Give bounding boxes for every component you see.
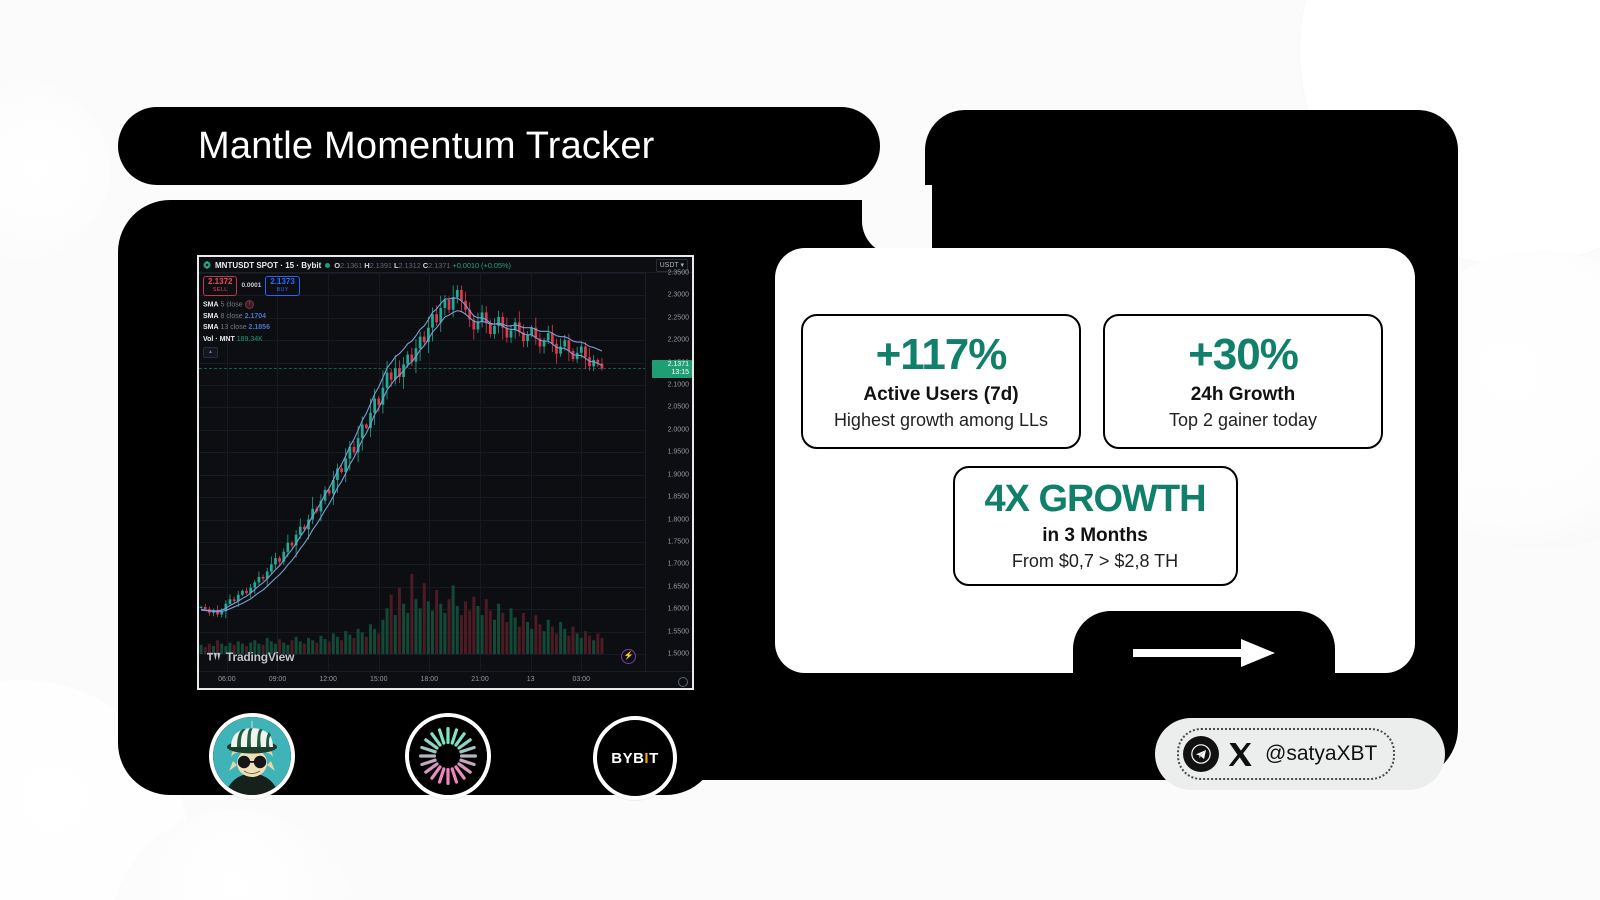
candle-body: [439, 308, 442, 322]
candle-body: [406, 355, 409, 365]
mantle-logo-icon: [203, 261, 211, 269]
decorative-circle-top-left: [0, 80, 110, 260]
sma5-name: SMA: [203, 301, 219, 308]
volume-bar: [386, 608, 389, 654]
candle-body: [241, 591, 244, 595]
volume-bar: [452, 585, 455, 654]
ohlc-open-value: 2.1361: [340, 261, 362, 270]
buy-button[interactable]: 2.1373 BUY: [265, 276, 299, 296]
sma5-params: 5 close: [221, 301, 243, 308]
bybit-text-part-1: BYB: [611, 750, 644, 767]
warning-icon[interactable]: !: [245, 300, 254, 309]
volume-bar: [373, 629, 376, 654]
volume-bar: [448, 599, 451, 654]
candle-body: [204, 607, 207, 609]
volume-bar: [476, 606, 479, 654]
candle-body: [530, 328, 533, 335]
spread-value: 0.0001: [241, 281, 261, 291]
volume-bar: [406, 613, 409, 654]
bybit-text-part-2: T: [649, 750, 659, 767]
candle-body: [419, 337, 422, 349]
volume-bar: [456, 606, 459, 654]
candle-body: [291, 543, 294, 546]
stat-value-active-users: +117%: [876, 333, 1007, 377]
chart-ohlc-readout: O2.1361 H2.1391 L2.1312 C2.1371 +0.0010 …: [334, 261, 511, 270]
volume-bar: [394, 615, 397, 654]
time-axis-tick: 03:00: [572, 676, 590, 683]
chevron-up-icon[interactable]: ▲: [203, 347, 218, 358]
candle-body: [200, 607, 203, 608]
candle-body: [353, 447, 356, 452]
social-handle-inner: @satyaXBT: [1177, 728, 1395, 780]
candle-body: [592, 360, 595, 366]
clock-icon[interactable]: [678, 677, 688, 687]
stat-card-24h-growth: +30% 24h Growth Top 2 gainer today: [1103, 314, 1383, 449]
volume-bar: [423, 583, 426, 654]
volume-bar: [319, 636, 322, 654]
volume-bar: [592, 640, 595, 654]
volume-bar: [501, 613, 504, 654]
candle-body: [431, 314, 434, 327]
volume-bar: [410, 574, 413, 654]
volume-bar: [600, 638, 603, 654]
social-handle-text: @satyaXBT: [1265, 742, 1377, 766]
candle-body: [423, 337, 426, 342]
volume-bar: [311, 640, 314, 654]
volume-name: Vol · MNT: [203, 336, 235, 343]
sma13-name: SMA: [203, 324, 219, 331]
candle-body: [580, 347, 583, 353]
page-title: Mantle Momentum Tracker: [118, 125, 655, 168]
candle-body: [493, 326, 496, 334]
volume-bar: [497, 604, 500, 654]
price-axis-tick: 2.3000: [668, 292, 689, 299]
price-axis-tick: 1.9500: [668, 449, 689, 456]
time-axis-tick: 13: [527, 676, 535, 683]
candle-body: [286, 543, 289, 552]
volume-bar: [468, 611, 471, 654]
mantle-logo[interactable]: [405, 713, 491, 799]
stats-row-bottom: 4X GROWTH in 3 Months From $0,7 > $2,8 T…: [775, 466, 1415, 586]
chart-symbol-label[interactable]: MNTUSDT SPOT · 15 · Bybit: [215, 261, 321, 270]
price-axis-tick: 2.3500: [668, 270, 689, 277]
price-axis-tick: 2.1000: [668, 382, 689, 389]
buy-price: 2.1373: [270, 278, 294, 286]
price-axis-tick: 1.7500: [668, 538, 689, 545]
volume-bar: [460, 615, 463, 654]
price-axis-tick: 1.5500: [668, 628, 689, 635]
price-axis-tick: 1.7000: [668, 561, 689, 568]
bid-ask-widget[interactable]: 2.1372 SELL 0.0001 2.1373 BUY: [203, 276, 300, 296]
volume-bar: [402, 604, 405, 654]
sma8-name: SMA: [203, 313, 219, 320]
stat-sub-24h-growth: Top 2 gainer today: [1169, 410, 1317, 431]
volume-bar: [295, 637, 298, 654]
time-axis-tick: 06:00: [218, 676, 236, 683]
sell-button[interactable]: 2.1372 SELL: [203, 276, 237, 296]
current-price-time: 13:15: [655, 369, 689, 377]
stat-value-4x-growth: 4X GROWTH: [984, 480, 1205, 518]
candle-body: [444, 300, 447, 308]
candle-body: [435, 314, 438, 322]
sma13-value: 2.1856: [249, 324, 270, 331]
stat-label-24h-growth: 24h Growth: [1191, 384, 1296, 406]
candle-body: [448, 300, 451, 310]
candle-body: [551, 333, 554, 344]
volume-bar: [419, 608, 422, 654]
sma13-params: 13 close: [221, 324, 247, 331]
candle-body: [456, 290, 459, 297]
volume-bar: [348, 635, 351, 654]
volume-bar: [526, 622, 529, 654]
ohlc-close-value: 2.1371: [428, 261, 450, 270]
candle-body: [481, 312, 484, 321]
volume-bar: [398, 588, 401, 654]
volume-bar: [472, 597, 475, 654]
stat-card-active-users: +117% Active Users (7d) Highest growth a…: [801, 314, 1081, 449]
volume-bar: [534, 615, 537, 654]
candle-body: [258, 577, 261, 582]
volume-bar: [518, 627, 521, 654]
candle-body: [274, 558, 277, 564]
avatar-illustration-icon: [213, 717, 291, 795]
time-axis-tick: 18:00: [421, 676, 439, 683]
sma8-params: 8 close: [221, 313, 243, 320]
volume-bar: [427, 601, 430, 654]
volume-bar: [572, 627, 575, 654]
volume-bar: [381, 620, 384, 654]
candle-body: [390, 373, 393, 380]
price-axis-tick: 2.0000: [668, 426, 689, 433]
price-axis-tick: 2.2000: [668, 337, 689, 344]
volume-bar: [493, 620, 496, 654]
volume-bar: [555, 633, 558, 654]
volume-bar: [377, 633, 380, 654]
volume-bar: [369, 624, 372, 654]
stat-card-4x-growth: 4X GROWTH in 3 Months From $0,7 > $2,8 T…: [953, 466, 1238, 586]
volume-bar: [543, 631, 546, 654]
candle-body: [229, 599, 232, 603]
candle-body: [386, 373, 389, 388]
volume-bar: [332, 633, 335, 654]
telegram-icon[interactable]: [1183, 736, 1219, 772]
bybit-logo[interactable]: BYBIT: [593, 716, 677, 800]
indicator-volume[interactable]: Vol · MNT 189.34K: [203, 335, 300, 345]
candle-body: [299, 527, 302, 535]
candle-body: [373, 399, 376, 413]
volume-bar: [464, 601, 467, 654]
current-price-value: 2.1371: [655, 361, 689, 369]
stats-row-top: +117% Active Users (7d) Highest growth a…: [801, 314, 1383, 449]
volume-bar: [303, 644, 306, 654]
live-dot-icon: [325, 263, 330, 268]
candle-body: [340, 468, 343, 472]
price-axis-tick: 1.9000: [668, 471, 689, 478]
volume-bar: [336, 637, 339, 654]
volume-bar: [505, 622, 508, 654]
volume-bar: [481, 615, 484, 654]
volume-bar: [489, 611, 492, 654]
candle-body: [584, 347, 587, 358]
bybit-wordmark: BYBIT: [611, 750, 659, 767]
volume-bar: [324, 639, 327, 654]
currency-selector-label: USDT: [660, 262, 679, 269]
volume-bar: [547, 620, 550, 654]
price-axis-tick: 1.8500: [668, 494, 689, 501]
chart-toolbar: MNTUSDT SPOT · 15 · Bybit O2.1361 H2.139…: [199, 257, 692, 273]
volume-bar: [563, 629, 566, 654]
indicator-sma-5[interactable]: SMA 5 close !: [203, 300, 300, 310]
volume-bar: [514, 617, 517, 654]
volume-bar: [307, 638, 310, 654]
sell-price: 2.1372: [208, 278, 232, 286]
stats-card: +117% Active Users (7d) Highest growth a…: [775, 248, 1415, 673]
volume-bar: [365, 637, 368, 654]
time-axis-tick: 09:00: [269, 676, 287, 683]
volume-bar: [584, 631, 587, 654]
volume-bar: [580, 638, 583, 654]
volume-bar: [588, 636, 591, 654]
candle-body: [510, 330, 513, 337]
chart-legend: 2.1372 SELL 0.0001 2.1373 BUY SMA 5 clos…: [203, 276, 300, 358]
candle-body: [270, 564, 273, 571]
volume-bar: [431, 611, 434, 654]
candle-body: [278, 558, 281, 562]
price-axis[interactable]: 2.35002.30002.25002.20002.15002.10002.05…: [645, 273, 692, 672]
volume-bar: [576, 633, 579, 654]
tradingview-chart-window[interactable]: MNTUSDT SPOT · 15 · Bybit O2.1361 H2.139…: [197, 255, 694, 690]
volume-bar: [522, 613, 525, 654]
candle-body: [568, 340, 571, 351]
tradingview-logo-icon: TradingView: [207, 650, 294, 664]
social-handle-pill[interactable]: @satyaXBT: [1155, 718, 1445, 790]
volume-bar: [435, 590, 438, 654]
time-axis[interactable]: 06:0009:0012:0015:0018:0021:001303:00: [199, 671, 692, 690]
stat-sub-4x-growth: From $0,7 > $2,8 TH: [1012, 551, 1178, 572]
volume-bar: [414, 599, 417, 654]
volume-bar: [596, 633, 599, 654]
volume-bar: [510, 608, 513, 654]
volume-bar: [299, 641, 302, 654]
volume-bar: [344, 631, 347, 654]
time-axis-tick: 21:00: [471, 676, 489, 683]
volume-bar: [567, 636, 570, 654]
price-axis-tick: 1.5000: [668, 651, 689, 658]
volume-bar: [538, 624, 541, 654]
mantle-spoke: [460, 754, 477, 757]
candle-body: [526, 335, 529, 341]
next-slide-button[interactable]: [1073, 611, 1335, 711]
volume-bar: [340, 640, 343, 654]
price-axis-tick: 1.6000: [668, 606, 689, 613]
current-price-line: [199, 368, 646, 369]
mantle-spoke: [446, 768, 449, 785]
time-axis-tick: 15:00: [370, 676, 388, 683]
sma8-value: 2.1704: [245, 313, 266, 320]
candle-body: [489, 323, 492, 334]
candle-body: [563, 340, 566, 346]
candle-body: [377, 399, 380, 405]
volume-bar: [357, 629, 360, 654]
current-price-tag: 2.137113:15: [652, 360, 692, 378]
volume-bar: [361, 632, 364, 654]
candle-body: [253, 582, 256, 587]
chart-plot-area[interactable]: 2.1372 SELL 0.0001 2.1373 BUY SMA 5 clos…: [199, 273, 692, 690]
lightning-bolt-icon[interactable]: ⚡: [621, 649, 636, 664]
time-axis-tick: 12:00: [319, 676, 337, 683]
candle-body: [233, 599, 236, 601]
mantle-spoke: [419, 754, 436, 757]
volume-value: 189.34K: [237, 336, 263, 343]
arrow-right-icon: [1133, 635, 1283, 671]
candle-body: [245, 591, 248, 593]
candle-body: [460, 290, 463, 301]
volume-bar: [530, 629, 533, 654]
tradingview-brand-text: TradingView: [226, 650, 294, 664]
indicator-sma-13[interactable]: SMA 13 close 2.1856: [203, 323, 300, 333]
price-axis-tick: 2.0500: [668, 404, 689, 411]
volume-bar: [315, 643, 318, 654]
candle-body: [365, 425, 368, 429]
volume-bar: [485, 599, 488, 654]
buy-label: BUY: [270, 286, 294, 294]
volume-bar: [551, 627, 554, 654]
volume-bar: [390, 595, 393, 654]
candle-body: [547, 333, 550, 340]
title-banner: Mantle Momentum Tracker: [118, 107, 880, 185]
candle-body: [452, 297, 455, 310]
price-axis-tick: 1.8000: [668, 516, 689, 523]
x-logo-icon[interactable]: [1225, 739, 1255, 769]
volume-bar: [200, 645, 203, 654]
volume-bar: [443, 613, 446, 654]
ohlc-high-value: 2.1391: [370, 261, 392, 270]
stat-sub-active-users: Highest growth among LLs: [834, 410, 1048, 431]
ohlc-change-value: +0.0010 (+0.05%): [452, 261, 510, 270]
stat-label-4x-growth: in 3 Months: [1042, 525, 1148, 547]
title-notch-corner-fill: [862, 185, 898, 211]
mantle-spoke: [446, 727, 449, 744]
volume-bar: [439, 604, 442, 654]
sell-label: SELL: [208, 286, 232, 294]
tradingview-mark-icon: [207, 652, 222, 662]
candle-body: [262, 577, 265, 579]
profile-avatar[interactable]: [209, 713, 295, 799]
indicator-sma-8[interactable]: SMA 8 close 2.1704: [203, 312, 300, 322]
stat-value-24h-growth: +30%: [1188, 333, 1298, 377]
candle-body: [555, 344, 558, 354]
mantle-logo-icon: [409, 717, 487, 795]
volume-bar: [328, 641, 331, 654]
price-axis-tick: 1.6500: [668, 583, 689, 590]
candle-body: [361, 425, 364, 438]
stat-label-active-users: Active Users (7d): [863, 384, 1018, 406]
price-axis-tick: 2.2500: [668, 314, 689, 321]
volume-bar: [559, 622, 562, 654]
volume-bar: [352, 638, 355, 654]
ohlc-low-value: 2.1312: [398, 261, 420, 270]
